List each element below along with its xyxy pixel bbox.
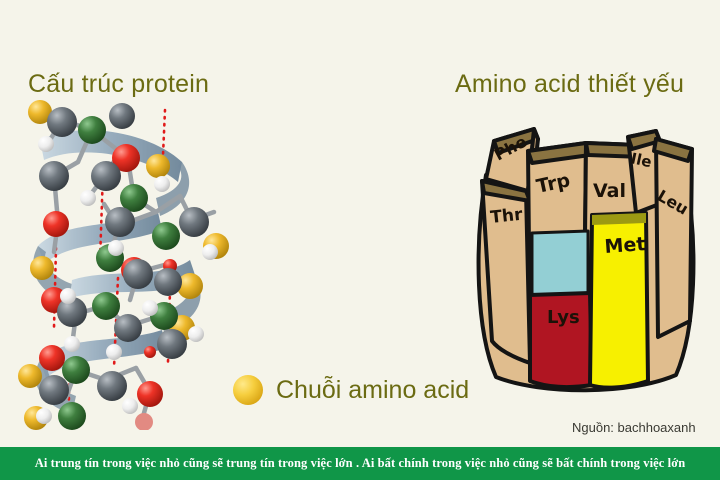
- nitrogen-atom: [62, 356, 90, 384]
- hydrogen-atom: [36, 408, 52, 424]
- infographic-canvas: Cấu trúc protein: [0, 0, 720, 480]
- legend-label: Chuỗi amino acid: [276, 376, 469, 405]
- carbon-atom: [91, 161, 121, 191]
- banner-text: Ai trung tín trong việc nhỏ cũng sẽ trun…: [35, 456, 686, 471]
- sulfur-atom: [18, 364, 42, 388]
- carbon-atom: [123, 259, 153, 289]
- carbon-atom: [39, 375, 69, 405]
- carbon-atom: [154, 268, 182, 296]
- water-level: [532, 231, 588, 297]
- hydrogen-atom: [64, 336, 80, 352]
- hydrogen-atom: [108, 240, 124, 256]
- atoms: [18, 100, 229, 430]
- stave-label-lys: Lys: [547, 307, 580, 328]
- bottom-banner: Ai trung tín trong việc nhỏ cũng sẽ trun…: [0, 447, 720, 480]
- oxygen-atom: [39, 345, 65, 371]
- stave-label-val: Val: [593, 180, 626, 202]
- carbon-atom: [105, 207, 135, 237]
- legend: Chuỗi amino acid: [233, 375, 469, 405]
- oxygen-atom: [144, 346, 156, 358]
- sulfur-atom: [30, 256, 54, 280]
- source-attribution: Nguồn: bachhoaxanh: [572, 420, 696, 435]
- nitrogen-atom: [58, 402, 86, 430]
- nitrogen-atom: [92, 292, 120, 320]
- hydrogen-atom: [154, 176, 170, 192]
- nitrogen-atom: [152, 222, 180, 250]
- carbon-atom: [114, 314, 142, 342]
- stave-label-met: Met: [604, 233, 646, 258]
- carbon-atom: [47, 107, 77, 137]
- stave-leu: [656, 139, 692, 337]
- sulfur-atom: [146, 154, 170, 178]
- carbon-atom: [179, 207, 209, 237]
- carbon-atom: [109, 103, 135, 129]
- hydrogen-atom: [142, 300, 158, 316]
- hydrogen-atom: [188, 326, 204, 342]
- amino-acid-barrel-diagram: Thr Phe Trp Val Ile Leu Met Lys: [450, 95, 720, 415]
- amino-acid-chain-swatch-icon: [233, 375, 263, 405]
- carbon-atom: [39, 161, 69, 191]
- oxygen-atom: [43, 211, 69, 237]
- carbon-atom: [97, 371, 127, 401]
- stave-label-thr: Thr: [489, 205, 524, 228]
- nitrogen-atom: [78, 116, 106, 144]
- protein-structure-diagram: [10, 100, 245, 430]
- hydrogen-atom: [60, 288, 76, 304]
- left-panel-title: Cấu trúc protein: [28, 70, 209, 99]
- hydrogen-atom: [106, 344, 122, 360]
- hydrogen-atom: [38, 136, 54, 152]
- carbon-atom: [157, 329, 187, 359]
- oxygen-atom: [137, 381, 163, 407]
- oxygen-atom: [135, 413, 153, 430]
- hydrogen-atom: [122, 398, 138, 414]
- hydrogen-atom: [80, 190, 96, 206]
- hydrogen-atom: [202, 244, 218, 260]
